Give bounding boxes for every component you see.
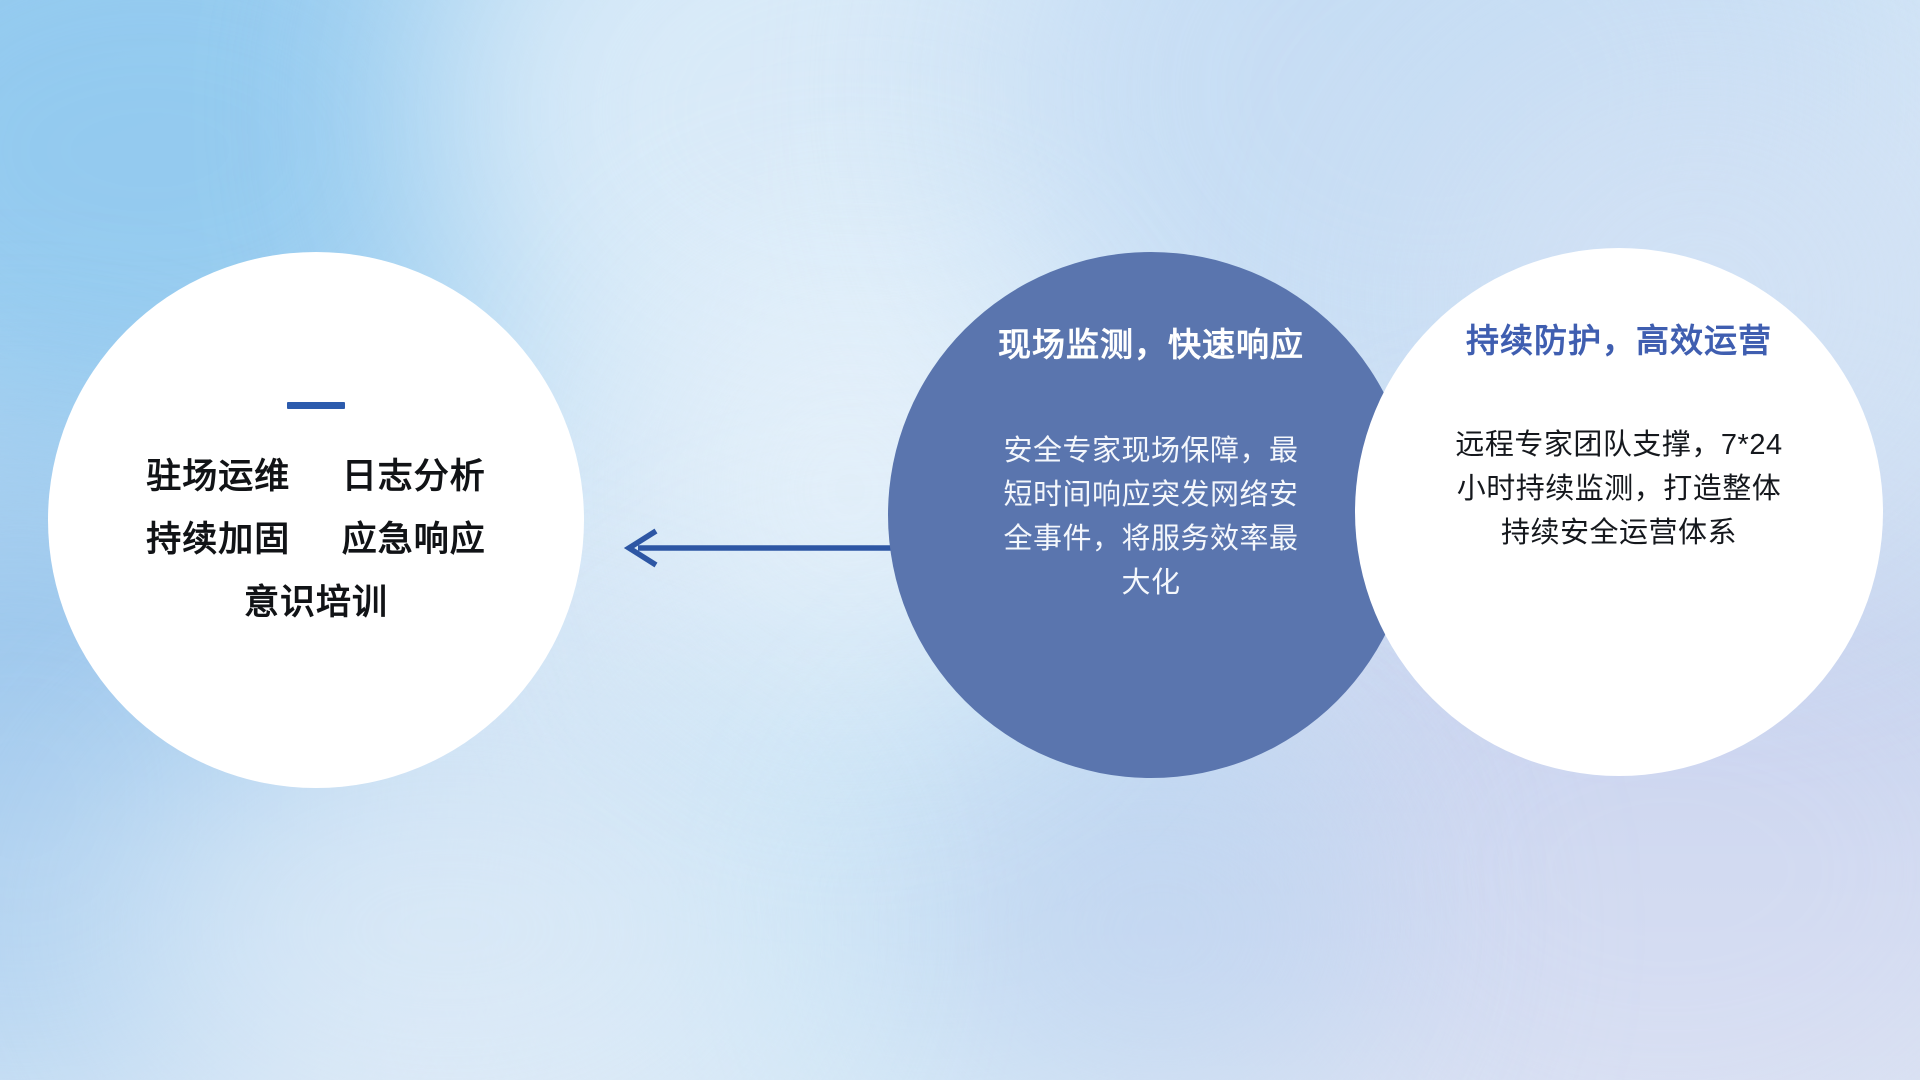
middle-circle-body: 安全专家现场保障，最短时间响应突发网络安全事件，将服务效率最大化 bbox=[1001, 429, 1301, 605]
list-item: 驻场运维 日志分析 bbox=[146, 459, 486, 494]
capability-label: 持续加固 bbox=[146, 520, 290, 559]
right-circle[interactable]: 持续防护，高效运营 远程专家团队支撑，7*24小时持续监测，打造整体持续安全运营… bbox=[1355, 248, 1883, 776]
capability-label: 日志分析 bbox=[342, 457, 486, 496]
list-item: 持续加固 应急响应 bbox=[146, 522, 486, 557]
left-circle-capability-list: 驻场运维 日志分析 持续加固 应急响应 意识培训 bbox=[146, 459, 486, 620]
capability-label: 意识培训 bbox=[244, 583, 388, 622]
divider-dash bbox=[287, 402, 345, 409]
middle-circle[interactable]: 现场监测，快速响应 安全专家现场保障，最短时间响应突发网络安全事件，将服务效率最… bbox=[888, 252, 1414, 778]
capability-label: 驻场运维 bbox=[146, 457, 290, 496]
right-circle-title: 持续防护，高效运营 bbox=[1466, 324, 1772, 357]
capability-label: 应急响应 bbox=[342, 520, 486, 559]
right-circle-body: 远程专家团队支撑，7*24小时持续监测，打造整体持续安全运营体系 bbox=[1443, 423, 1795, 555]
middle-circle-title: 现场监测，快速响应 bbox=[998, 328, 1304, 361]
slide-canvas: 驻场运维 日志分析 持续加固 应急响应 意识培训 现场监测，快速响应 安全专家现… bbox=[0, 0, 1920, 1080]
left-circle[interactable]: 驻场运维 日志分析 持续加固 应急响应 意识培训 bbox=[48, 252, 584, 788]
list-item: 意识培训 bbox=[244, 585, 388, 620]
